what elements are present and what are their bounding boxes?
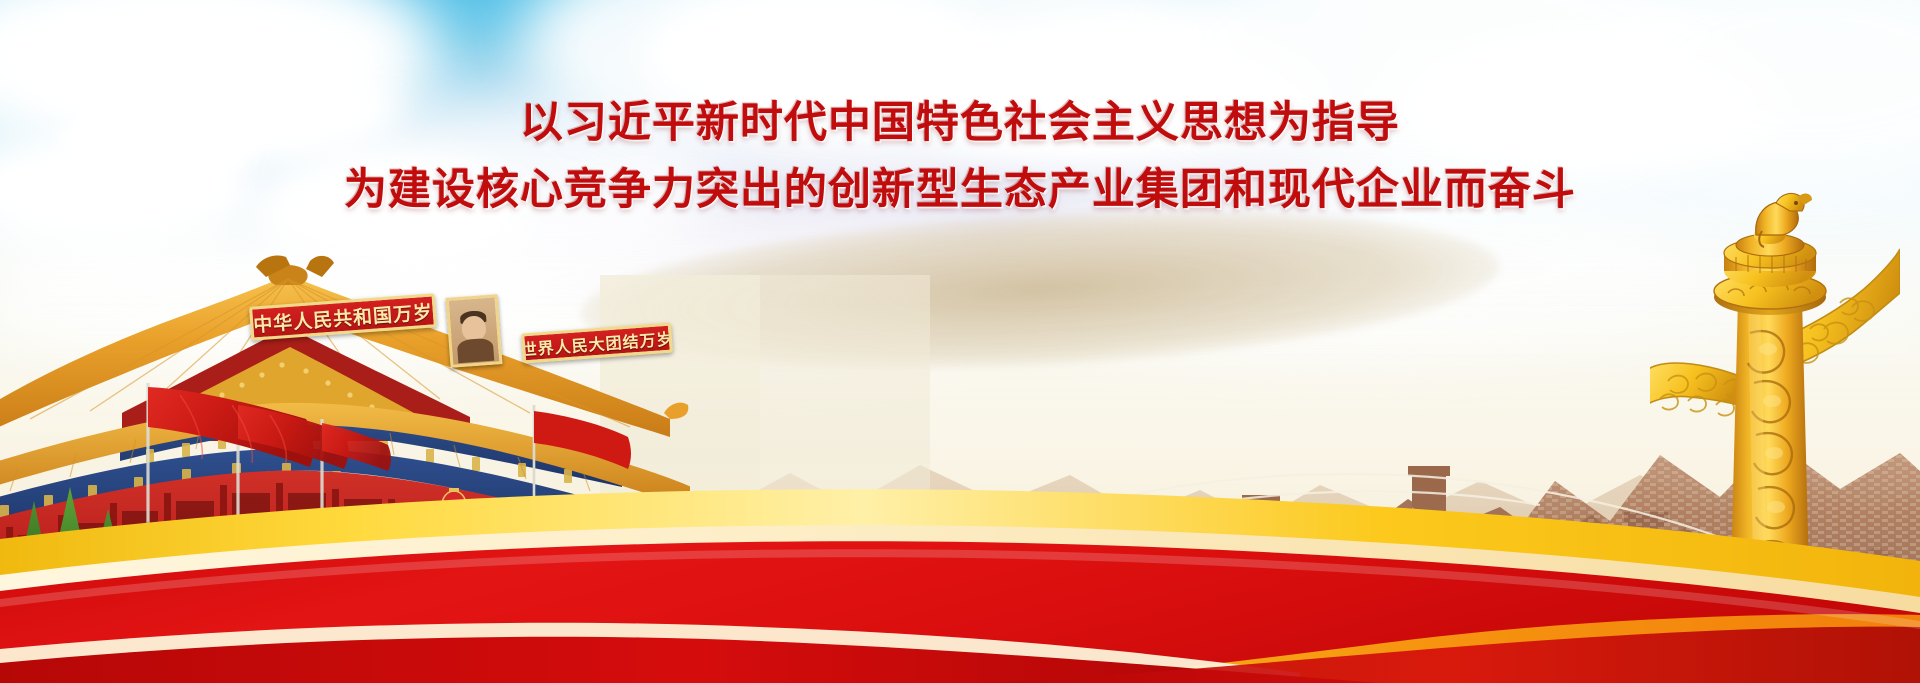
hou-beast-icon	[1754, 193, 1812, 247]
gate-portrait	[446, 294, 503, 368]
banner-root: 中华人民共和国万岁 世界人民大团结万岁	[0, 0, 1920, 683]
bottom-ribbon	[0, 483, 1920, 683]
portrait-suit	[457, 337, 494, 363]
